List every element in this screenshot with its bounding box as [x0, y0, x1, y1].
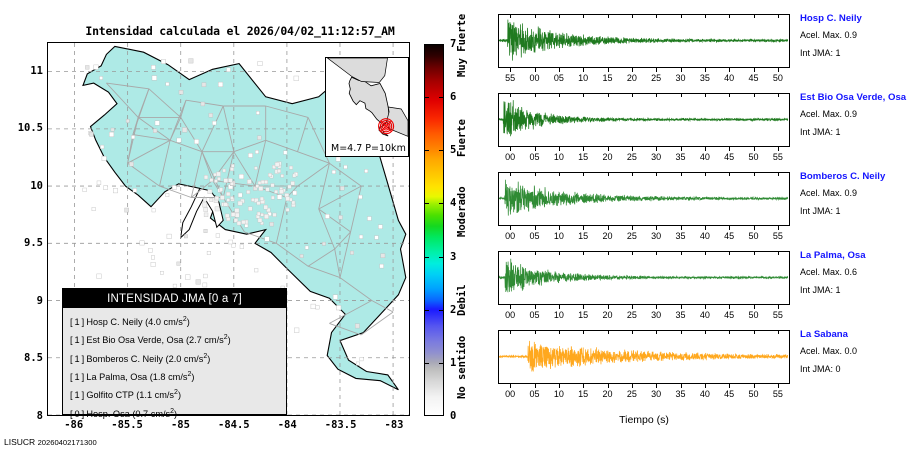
legend-station-row: [ 1 ] Golfito CTP (1.1 cm/s2): [70, 385, 286, 403]
seismogram-station-name: Est Bio Osa Verde, Osa: [800, 91, 910, 104]
seismogram-tick: [729, 384, 730, 388]
seismogram-panel: 000510152025303540455055La Palma, OsaAce…: [498, 251, 790, 305]
seismogram-station-name: La Sabana: [800, 328, 910, 341]
map-y-tick-label: 11: [30, 65, 43, 77]
seismogram-tick: [729, 251, 730, 255]
seismogram-tick-label: 20: [602, 231, 612, 241]
seismogram-tick: [583, 226, 584, 230]
colorbar-tick: [424, 310, 429, 311]
seismogram-tick: [632, 68, 633, 72]
seismogram-tick: [535, 305, 536, 309]
seismogram-tick: [778, 14, 779, 18]
seismogram-tick: [632, 251, 633, 255]
seismogram-tick: [754, 93, 755, 97]
seismogram-tick-label: 00: [505, 231, 515, 241]
seismogram-tick: [535, 68, 536, 72]
seismogram-tick: [583, 251, 584, 255]
seismogram-tick-label: 35: [675, 389, 685, 399]
seismogram-tick: [778, 330, 779, 334]
seismogram-tick: [681, 330, 682, 334]
colorbar-category-label: Fuerte: [456, 119, 468, 157]
legend-header: INTENSIDAD JMA [0 a 7]: [63, 289, 286, 308]
seismogram-tick-label: 25: [627, 389, 637, 399]
legend-station-row: [ 0 ] Hosp. Osa (0.7 cm/s2): [70, 404, 286, 422]
seismogram-tick-label: 25: [627, 231, 637, 241]
seismogram-tick-label: 35: [675, 152, 685, 162]
seismogram-tick-label: 40: [700, 231, 710, 241]
seismogram-tick: [608, 251, 609, 255]
seismogram-tick: [705, 14, 706, 18]
seismogram-tick-label: 30: [651, 389, 661, 399]
seismogram-tick: [754, 251, 755, 255]
page-title: Intensidad calculada el 2026/04/02_11:12…: [60, 24, 420, 38]
magnitude-depth-caption: M=4.7 P=10km: [331, 143, 406, 154]
seismogram-tick: [583, 147, 584, 151]
seismogram-tick: [535, 384, 536, 388]
seismogram-tick-label: 45: [724, 389, 734, 399]
seismogram-tick-label: 00: [505, 310, 515, 320]
seismogram-tick-label: 15: [602, 73, 612, 83]
seismogram-tick: [632, 384, 633, 388]
seismogram-tick: [729, 172, 730, 176]
seismogram-tick: [510, 14, 511, 18]
seismogram-tick: [729, 68, 730, 72]
seismogram-tick: [778, 68, 779, 72]
seismogram-x-axis: 000510152025303540455055: [498, 384, 790, 402]
seismogram-tick: [656, 172, 657, 176]
seismogram-tick-label: 10: [578, 73, 588, 83]
seismogram-tick: [632, 14, 633, 18]
seismogram-tick-label: 45: [724, 231, 734, 241]
seismogram-tick-label: 45: [724, 310, 734, 320]
seismogram-tick: [681, 226, 682, 230]
seismogram-tick: [583, 93, 584, 97]
seismogram-tick: [705, 305, 706, 309]
map-x-tick-label: -83: [385, 419, 404, 431]
seismogram-tick: [754, 226, 755, 230]
seismogram-tick: [705, 384, 706, 388]
seismogram-tick: [559, 68, 560, 72]
seismogram-tick: [754, 172, 755, 176]
seismogram-tick-label: 15: [578, 231, 588, 241]
seismogram-tick: [681, 68, 682, 72]
seismogram-tick: [535, 93, 536, 97]
seismogram-tick-label: 10: [554, 231, 564, 241]
seismogram-tick-label: 30: [651, 152, 661, 162]
seismogram-tick: [754, 68, 755, 72]
seismogram-tick-label: 50: [748, 231, 758, 241]
seismogram-tick-label: 55: [773, 231, 783, 241]
seismogram-tick-label: 10: [554, 152, 564, 162]
colorbar-tick: [439, 97, 444, 98]
seismogram-tick-label: 30: [675, 73, 685, 83]
seismogram-tick: [729, 147, 730, 151]
seismogram-tick: [778, 384, 779, 388]
seismogram-jma-intensity: Int JMA: 1: [800, 283, 910, 298]
seismogram-tick: [656, 147, 657, 151]
seismogram-tick: [681, 384, 682, 388]
seismogram-tick: [510, 226, 511, 230]
footer-org: LISUCR: [4, 437, 35, 447]
seismogram-x-axis: 000510152025303540455055: [498, 147, 790, 165]
colorbar-tick: [439, 150, 444, 151]
seismogram-tick: [681, 93, 682, 97]
seismogram-tick: [754, 384, 755, 388]
colorbar-gradient: [424, 44, 444, 416]
seismogram-tick: [608, 14, 609, 18]
seismogram-tick-label: 30: [651, 310, 661, 320]
seismogram-tick: [583, 305, 584, 309]
seismogram-tick: [705, 68, 706, 72]
seismogram-jma-intensity: Int JMA: 1: [800, 125, 910, 140]
seismogram-jma-intensity: Int JMA: 0: [800, 362, 910, 377]
seismogram-tick: [632, 226, 633, 230]
seismogram-tick: [535, 330, 536, 334]
seismogram-station-info: La Palma, OsaAcel. Max. 0.6Int JMA: 1: [800, 249, 910, 298]
seismogram-tick-label: 40: [724, 73, 734, 83]
seismogram-tick-label: 20: [627, 73, 637, 83]
seismogram-tick-label: 50: [748, 152, 758, 162]
seismogram-tick: [656, 251, 657, 255]
seismogram-tick: [729, 14, 730, 18]
seismogram-tick: [559, 251, 560, 255]
map-y-tick-label: 8.5: [24, 352, 43, 364]
seismogram-tick-label: 50: [773, 73, 783, 83]
colorbar-category-label: Debil: [456, 285, 468, 317]
seismogram-tick: [583, 172, 584, 176]
seismogram-tick-label: 10: [554, 389, 564, 399]
seismogram-tick: [632, 147, 633, 151]
seismogram-tick: [608, 147, 609, 151]
seismogram-tick: [535, 251, 536, 255]
seismogram-tick: [608, 68, 609, 72]
seismogram-tick: [632, 172, 633, 176]
seismogram-tick: [583, 14, 584, 18]
map-y-tick-label: 9: [37, 295, 43, 307]
intensity-colorbar: 01234567: [424, 44, 444, 416]
seismogram-tick-label: 40: [700, 310, 710, 320]
seismogram-trace-plot[interactable]: [498, 14, 790, 68]
seismogram-tick: [705, 226, 706, 230]
seismogram-tick: [754, 305, 755, 309]
seismogram-tick: [583, 330, 584, 334]
seismogram-tick-label: 45: [724, 152, 734, 162]
seismogram-tick-label: 55: [505, 73, 515, 83]
seismogram-tick-label: 05: [529, 389, 539, 399]
colorbar-tick: [424, 257, 429, 258]
seismogram-tick: [656, 14, 657, 18]
seismogram-tick: [705, 330, 706, 334]
seismogram-tick: [681, 14, 682, 18]
seismogram-tick: [681, 305, 682, 309]
seismogram-tick-label: 55: [773, 152, 783, 162]
seismogram-station-info: La SabanaAcel. Max. 0.0Int JMA: 0: [800, 328, 910, 377]
seismogram-tick: [583, 384, 584, 388]
map-x-tick-label: -83.5: [325, 419, 357, 431]
seismogram-tick-label: 00: [529, 73, 539, 83]
seismogram-tick: [778, 93, 779, 97]
seismogram-tick-label: 05: [554, 73, 564, 83]
seismogram-tick: [632, 305, 633, 309]
seismogram-tick: [608, 384, 609, 388]
colorbar-tick: [439, 203, 444, 204]
seismogram-panel: 000510152025303540455055Est Bio Osa Verd…: [498, 93, 790, 147]
seismogram-tick: [656, 305, 657, 309]
colorbar-value-label: 0: [450, 410, 456, 422]
seismogram-tick-label: 15: [578, 389, 588, 399]
seismogram-tick: [681, 147, 682, 151]
seismogram-tick: [656, 384, 657, 388]
seismogram-tick: [559, 330, 560, 334]
colorbar-category-label: Moderado: [456, 186, 468, 237]
waveform-graphic: [499, 94, 788, 145]
seismogram-tick-label: 05: [529, 152, 539, 162]
seismogram-tick: [559, 384, 560, 388]
seismogram-tick: [632, 330, 633, 334]
seismogram-tick: [559, 93, 560, 97]
intensity-legend: INTENSIDAD JMA [0 a 7] [ 1 ] Hosp C. Nei…: [62, 288, 287, 415]
seismogram-tick: [705, 147, 706, 151]
seismogram-tick-label: 20: [602, 310, 612, 320]
seismogram-tick: [510, 68, 511, 72]
colorbar-tick: [439, 310, 444, 311]
colorbar-tick: [439, 363, 444, 364]
seismogram-trace-plot[interactable]: [498, 330, 790, 384]
seismogram-tick: [729, 93, 730, 97]
seismogram-x-axis: 000510152025303540455055: [498, 305, 790, 323]
seismogram-tick: [510, 172, 511, 176]
seismogram-tick: [681, 172, 682, 176]
seismogram-tick-label: 15: [578, 152, 588, 162]
seismogram-tick: [559, 305, 560, 309]
seismogram-tick-label: 35: [700, 73, 710, 83]
seismogram-tick: [559, 172, 560, 176]
seismogram-tick: [754, 147, 755, 151]
seismogram-tick-label: 50: [748, 389, 758, 399]
seismogram-x-axis-title: Tiempo (s): [498, 414, 790, 426]
seismogram-max-accel: Acel. Max. 0.0: [800, 344, 910, 359]
seismogram-tick-label: 05: [529, 231, 539, 241]
seismogram-jma-intensity: Int JMA: 1: [800, 204, 910, 219]
seismogram-tick: [510, 147, 511, 151]
seismogram-tick: [705, 93, 706, 97]
seismogram-trace-plot[interactable]: [498, 172, 790, 226]
seismogram-max-accel: Acel. Max. 0.6: [800, 265, 910, 280]
seismogram-max-accel: Acel. Max. 0.9: [800, 28, 910, 43]
seismogram-tick: [681, 251, 682, 255]
seismogram-tick: [754, 330, 755, 334]
inset-map-graphic: [326, 58, 408, 156]
locator-inset-map[interactable]: [325, 57, 409, 157]
seismogram-station-info: Bomberos C. NeilyAcel. Max. 0.9Int JMA: …: [800, 170, 910, 219]
legend-station-row: [ 1 ] Est Bio Osa Verde, Osa (2.7 cm/s2): [70, 330, 286, 348]
seismogram-tick: [656, 93, 657, 97]
seismogram-tick: [559, 226, 560, 230]
seismogram-tick: [729, 305, 730, 309]
legend-station-row: [ 1 ] La Palma, Osa (1.8 cm/s2): [70, 367, 286, 385]
map-y-tick-label: 9.5: [24, 237, 43, 249]
colorbar-tick: [439, 257, 444, 258]
seismogram-tick: [656, 68, 657, 72]
seismogram-tick-label: 40: [700, 389, 710, 399]
seismogram-max-accel: Acel. Max. 0.9: [800, 107, 910, 122]
seismogram-tick: [510, 305, 511, 309]
seismogram-tick-label: 20: [602, 389, 612, 399]
seismogram-tick: [510, 330, 511, 334]
map-y-tick-label: 10: [30, 180, 43, 192]
seismogram-tick-label: 30: [651, 231, 661, 241]
seismogram-tick-label: 25: [627, 310, 637, 320]
seismogram-tick-label: 35: [675, 231, 685, 241]
seismogram-tick-label: 25: [651, 73, 661, 83]
seismogram-tick-label: 15: [578, 310, 588, 320]
seismogram-tick-label: 40: [700, 152, 710, 162]
map-y-axis: 1110.5109.598.58: [0, 42, 43, 416]
seismogram-tick: [583, 68, 584, 72]
seismogram-tick: [535, 14, 536, 18]
seismogram-tick-label: 45: [748, 73, 758, 83]
seismogram-tick: [778, 226, 779, 230]
seismogram-tick-label: 10: [554, 310, 564, 320]
seismogram-x-axis: 550005101520253035404550: [498, 68, 790, 86]
seismogram-tick: [608, 93, 609, 97]
seismogram-tick: [510, 93, 511, 97]
seismogram-panel: 550005101520253035404550Hosp C. NeilyAce…: [498, 14, 790, 68]
seismogram-tick: [729, 226, 730, 230]
colorbar-tick: [424, 97, 429, 98]
seismogram-tick-label: 00: [505, 152, 515, 162]
legend-station-list: [ 1 ] Hosp C. Neily (4.0 cm/s2)[ 1 ] Est…: [63, 308, 286, 422]
seismogram-tick: [632, 93, 633, 97]
seismogram-tick: [535, 147, 536, 151]
seismogram-tick: [778, 172, 779, 176]
seismogram-tick: [608, 330, 609, 334]
seismogram-tick: [608, 226, 609, 230]
seismogram-station-info: Hosp C. NeilyAcel. Max. 0.9Int JMA: 1: [800, 12, 910, 61]
seismogram-tick: [535, 172, 536, 176]
legend-station-row: [ 1 ] Bomberos C. Neily (2.0 cm/s2): [70, 349, 286, 367]
colorbar-category-label: No sentido: [456, 336, 468, 399]
seismogram-tick: [705, 172, 706, 176]
seismogram-tick: [778, 147, 779, 151]
seismogram-tick-label: 05: [529, 310, 539, 320]
seismogram-tick-label: 55: [773, 310, 783, 320]
seismogram-station-name: Bomberos C. Neily: [800, 170, 910, 183]
seismogram-station-name: Hosp C. Neily: [800, 12, 910, 25]
legend-station-row: [ 1 ] Hosp C. Neily (4.0 cm/s2): [70, 312, 286, 330]
seismogram-tick-label: 25: [627, 152, 637, 162]
footer-code: 20260402171300: [38, 438, 97, 447]
waveform-graphic: [499, 173, 788, 224]
seismogram-panel: 000510152025303540455055La SabanaAcel. M…: [498, 330, 790, 384]
seismogram-tick: [705, 251, 706, 255]
colorbar-category-label: Muy Fuerte: [456, 14, 468, 77]
seismogram-tick: [559, 147, 560, 151]
seismogram-station-name: La Palma, Osa: [800, 249, 910, 262]
seismogram-tick: [510, 384, 511, 388]
seismogram-tick-label: 20: [602, 152, 612, 162]
map-y-tick-label: 8: [37, 410, 43, 422]
seismogram-tick: [559, 14, 560, 18]
seismogram-tick-label: 35: [675, 310, 685, 320]
seismogram-tick: [729, 330, 730, 334]
colorbar-value-label: 3: [450, 251, 456, 263]
seismogram-tick: [778, 305, 779, 309]
waveform-graphic: [499, 252, 788, 303]
seismogram-station-info: Est Bio Osa Verde, OsaAcel. Max. 0.9Int …: [800, 91, 910, 140]
seismogram-jma-intensity: Int JMA: 1: [800, 46, 910, 61]
seismogram-tick-label: 00: [505, 389, 515, 399]
seismogram-tick: [535, 226, 536, 230]
seismogram-tick: [608, 305, 609, 309]
map-y-tick-label: 10.5: [18, 122, 43, 134]
seismogram-max-accel: Acel. Max. 0.9: [800, 186, 910, 201]
seismogram-panel: 000510152025303540455055Bomberos C. Neil…: [498, 172, 790, 226]
seismogram-panels: 550005101520253035404550Hosp C. NeilyAce…: [498, 14, 910, 444]
seismogram-trace-plot[interactable]: [498, 251, 790, 305]
colorbar-tick: [424, 203, 429, 204]
seismogram-tick: [656, 226, 657, 230]
footer-credit: LISUCR 20260402171300: [4, 437, 97, 447]
seismogram-tick: [510, 251, 511, 255]
colorbar-value-label: 6: [450, 91, 456, 103]
seismic-intensity-report: Intensidad calculada el 2026/04/02_11:12…: [0, 0, 910, 460]
seismogram-trace-plot[interactable]: [498, 93, 790, 147]
seismogram-tick: [778, 251, 779, 255]
seismogram-x-axis: 000510152025303540455055: [498, 226, 790, 244]
seismogram-tick: [608, 172, 609, 176]
seismogram-tick-label: 50: [748, 310, 758, 320]
colorbar-tick: [424, 363, 429, 364]
waveform-graphic: [499, 15, 788, 66]
waveform-graphic: [499, 331, 788, 382]
seismogram-tick-label: 55: [773, 389, 783, 399]
colorbar-tick: [424, 150, 429, 151]
seismogram-tick: [656, 330, 657, 334]
seismogram-tick: [754, 14, 755, 18]
